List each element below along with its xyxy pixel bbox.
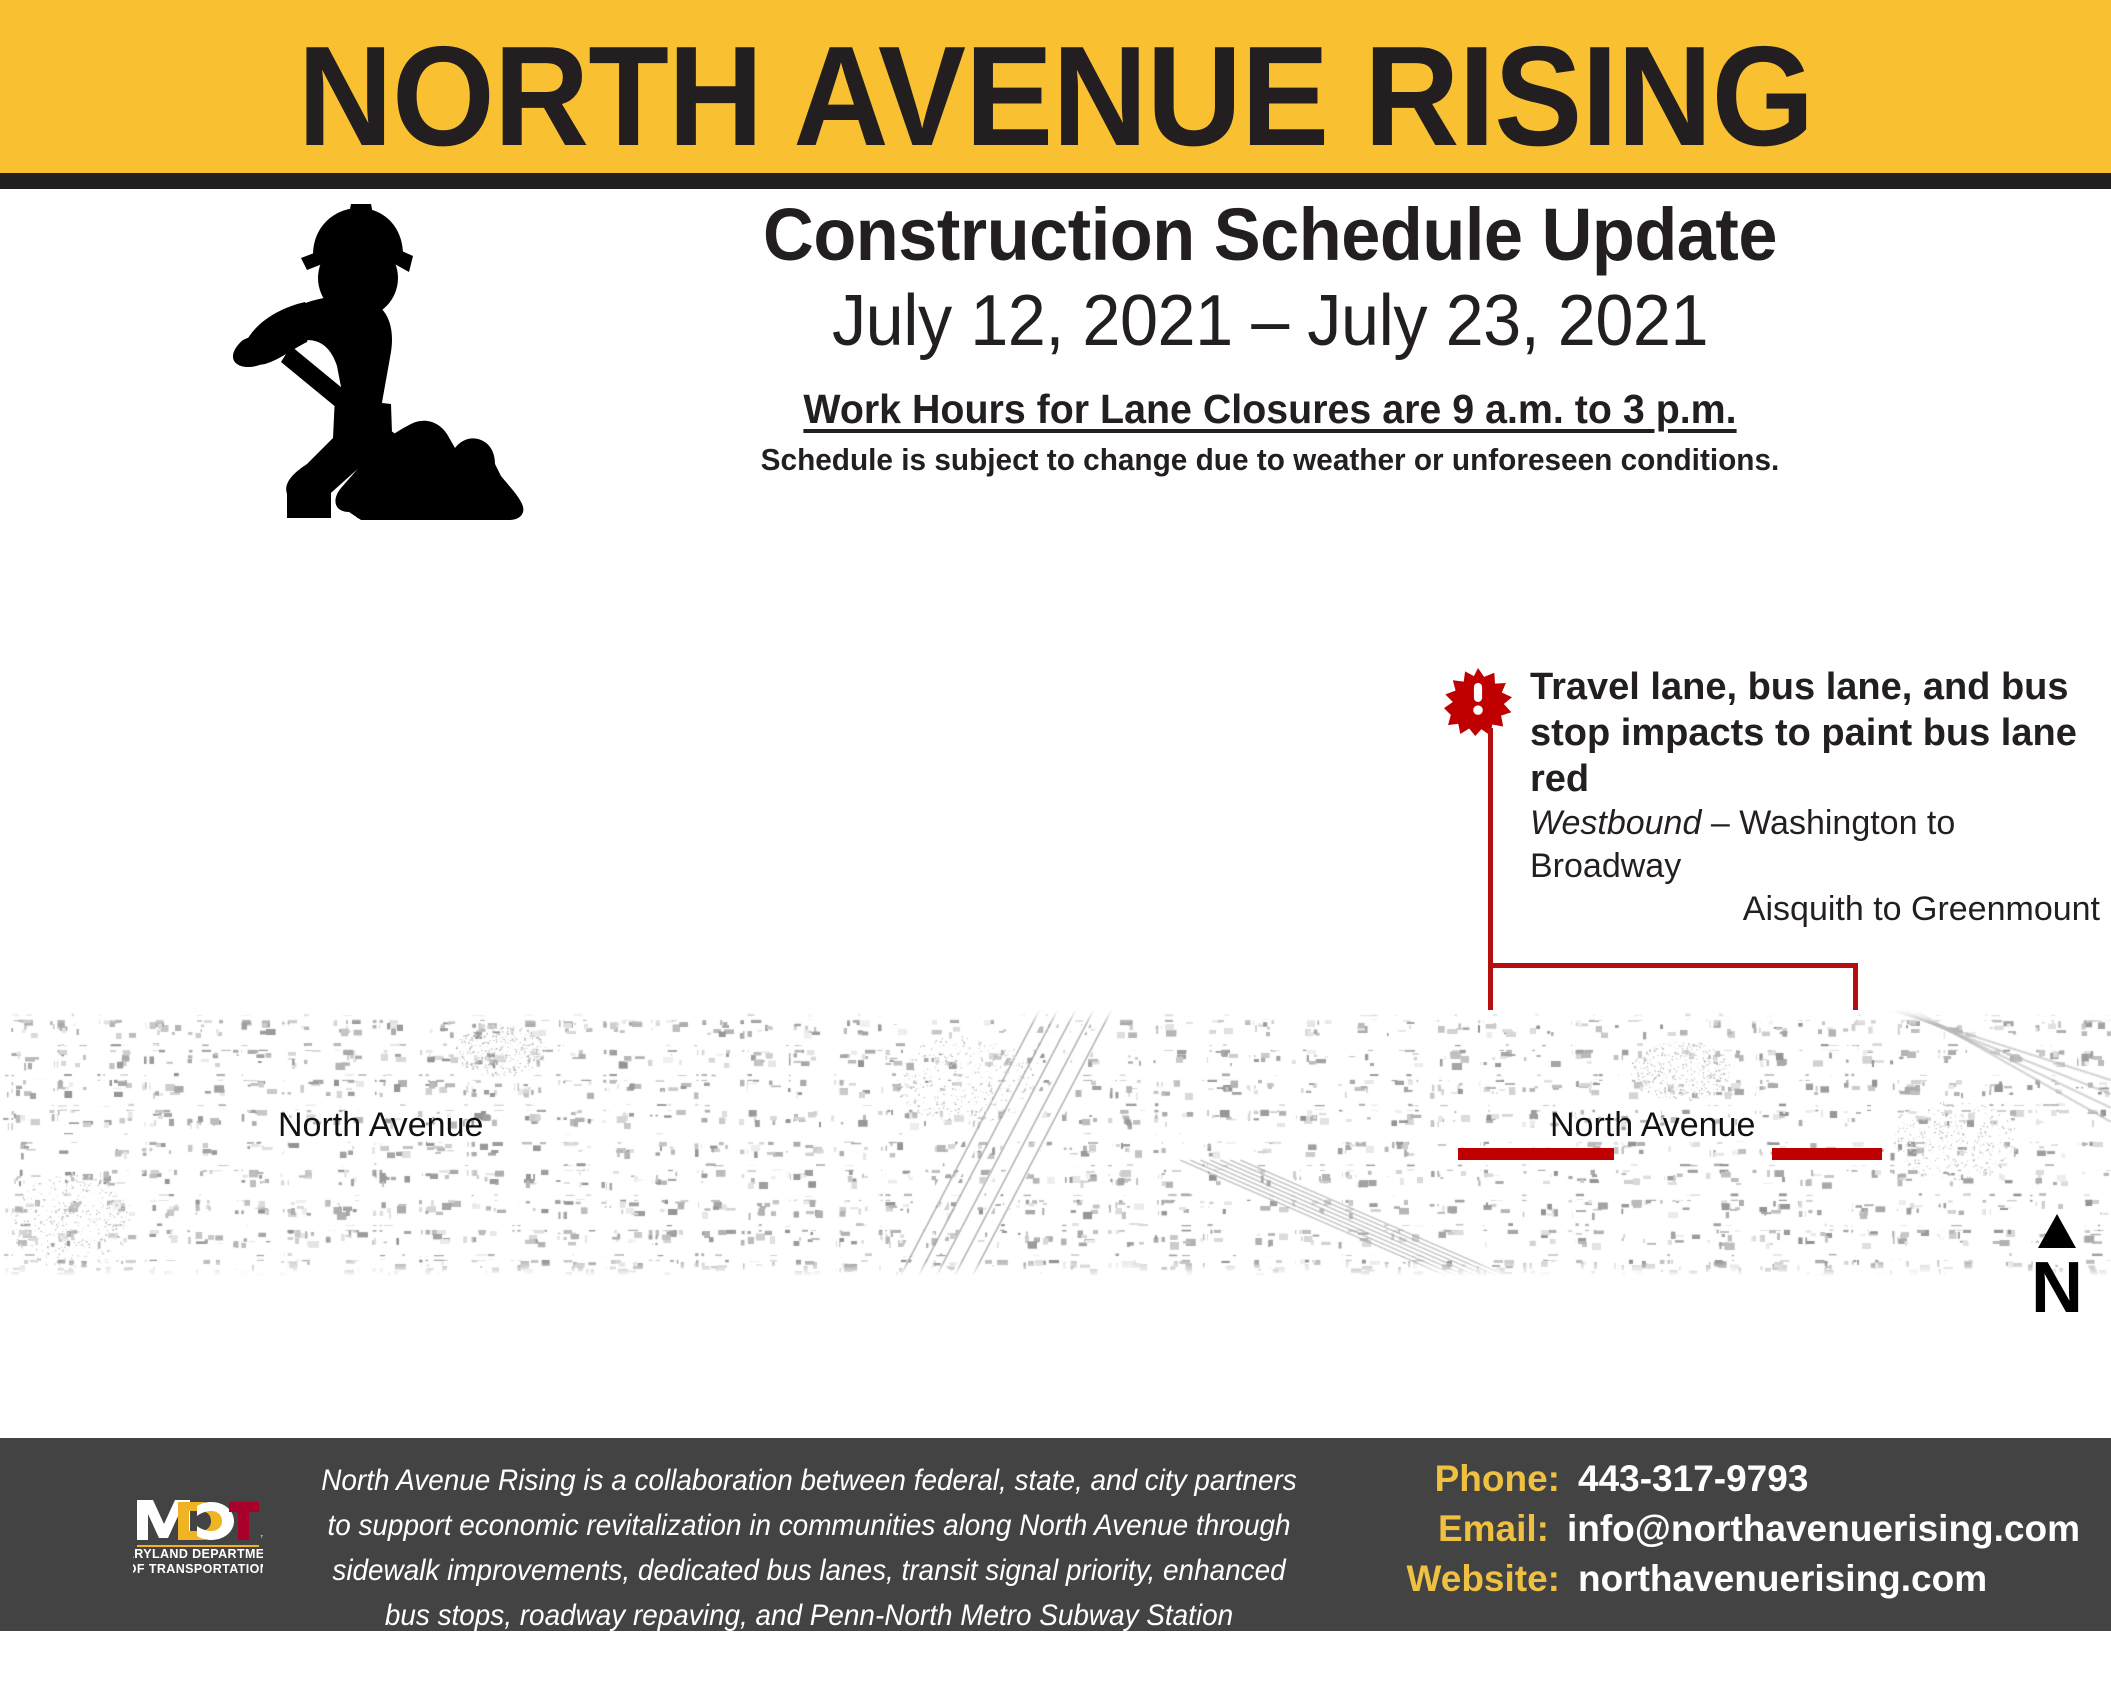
website-value[interactable]: northavenuerising.com bbox=[1578, 1558, 1987, 1600]
banner-bottom-rule bbox=[0, 173, 2111, 189]
header-banner: NORTH AVENUE RISING bbox=[0, 0, 2111, 173]
mdot-logo-icon: ™ MARYLAND DEPARTMENT OF TRANSPORTATION bbox=[133, 1482, 263, 1582]
contact-row-email: Email: info@northavenuerising.com bbox=[1380, 1508, 2080, 1558]
contact-row-phone: Phone: 443-317-9793 bbox=[1380, 1458, 2080, 1508]
road-work-worker-icon bbox=[195, 200, 535, 525]
north-arrow-icon: N bbox=[2022, 1212, 2092, 1322]
svg-text:MARYLAND DEPARTMENT: MARYLAND DEPARTMENT bbox=[133, 1547, 263, 1561]
email-label: Email: bbox=[1380, 1508, 1567, 1550]
callout-leader-horizontal bbox=[1488, 963, 1858, 968]
map-label-north-avenue-east: North Avenue bbox=[1550, 1105, 1755, 1145]
contact-block: Phone: 443-317-9793 Email: info@northave… bbox=[1380, 1458, 2080, 1608]
svg-text:OF TRANSPORTATION: OF TRANSPORTATION bbox=[133, 1562, 263, 1576]
work-hours-text: Work Hours for Lane Closures are 9 a.m. … bbox=[560, 384, 1981, 434]
svg-text:N: N bbox=[2031, 1248, 2083, 1322]
contact-row-website: Website: northavenuerising.com bbox=[1380, 1558, 2080, 1608]
closure-segment-aisquith-to-greenmount bbox=[1772, 1148, 1882, 1160]
schedule-disclaimer: Schedule is subject to change due to wea… bbox=[560, 440, 1981, 480]
closure-segment-washington-to-broadway bbox=[1458, 1148, 1614, 1160]
callout-dash: – bbox=[1701, 804, 1739, 842]
page-title: Construction Schedule Update bbox=[567, 192, 1973, 278]
footer-blurb: North Avenue Rising is a collaboration b… bbox=[321, 1458, 1298, 1683]
website-label: Website: bbox=[1380, 1558, 1578, 1600]
phone-label: Phone: bbox=[1380, 1458, 1578, 1500]
email-value[interactable]: info@northavenuerising.com bbox=[1567, 1508, 2080, 1550]
svg-text:™: ™ bbox=[260, 1535, 263, 1542]
callout-heading: Travel lane, bus lane, and bus stop impa… bbox=[1530, 664, 2100, 802]
callout-segment-1: Westbound – Washington to Broadway bbox=[1530, 802, 2100, 888]
map-label-north-avenue-west: North Avenue bbox=[278, 1105, 483, 1145]
alert-burst-icon bbox=[1444, 668, 1512, 736]
title-block: Construction Schedule Update July 12, 20… bbox=[530, 192, 2010, 480]
callout-segment-2: Aisquith to Greenmount bbox=[1530, 888, 2100, 931]
date-range: July 12, 2021 – July 23, 2021 bbox=[567, 278, 1973, 364]
project-title: NORTH AVENUE RISING bbox=[74, 22, 2037, 172]
callout-direction: Westbound bbox=[1530, 804, 1701, 842]
phone-value[interactable]: 443-317-9793 bbox=[1578, 1458, 1808, 1500]
